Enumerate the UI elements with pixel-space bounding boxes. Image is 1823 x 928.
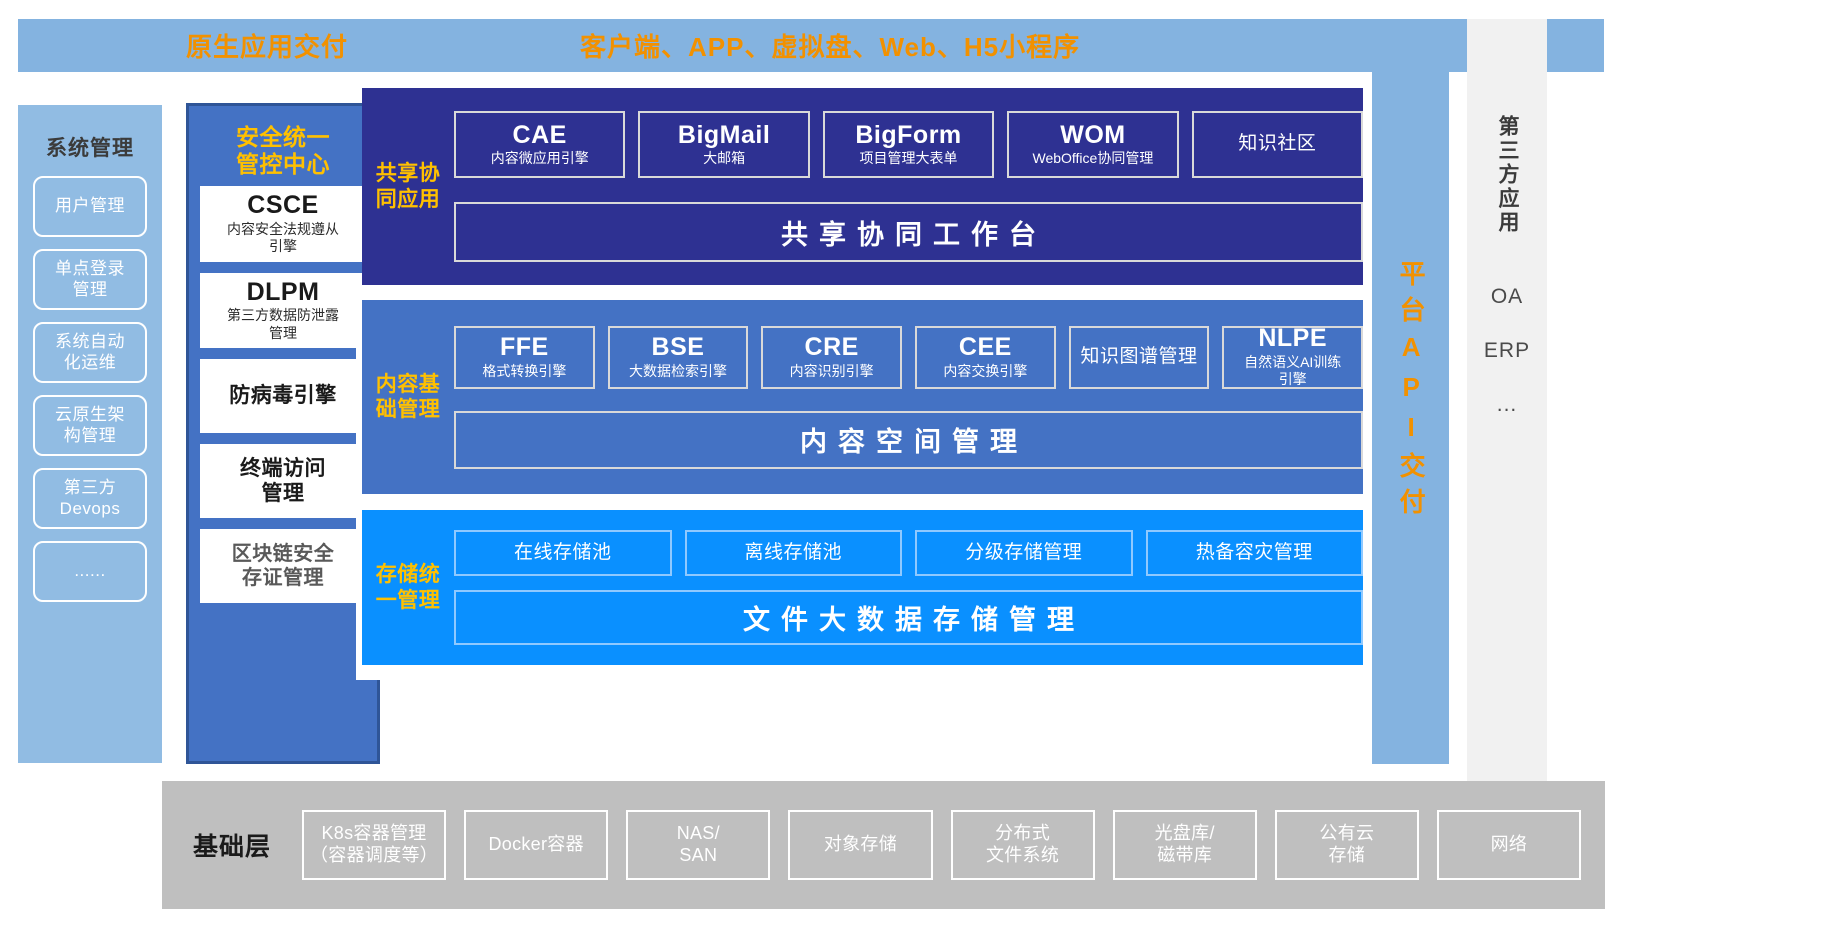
foundation-card-label: NAS/SAN <box>677 823 720 867</box>
file-bigdata-storage-management-bar[interactable]: 文件大数据存储管理 <box>454 590 1363 645</box>
app-card-cae[interactable]: CAE 内容微应用引擎 <box>454 111 625 178</box>
sidebar-item-cloud-native-architecture[interactable]: 云原生架构管理 <box>33 395 147 456</box>
engine-card-desc: 大数据检索引擎 <box>629 363 727 381</box>
storage-card-label: 在线存储池 <box>514 542 612 565</box>
storage-management-body: 在线存储池 离线存储池 分级存储管理 热备容灾管理 文件大数据存储管理 <box>454 530 1363 645</box>
security-card-blockchain-evidence-management[interactable]: 区块链安全存证管理 <box>200 529 366 603</box>
app-card-desc: 内容微应用引擎 <box>491 150 589 168</box>
third-party-item-erp[interactable]: ERP <box>1484 339 1530 363</box>
security-control-center-column: 安全统一管控中心 CSCE 内容安全法规遵从引擎 DLPM 第三方数据防泄露管理… <box>186 103 380 764</box>
content-space-management-bar[interactable]: 内容空间管理 <box>454 411 1363 469</box>
foundation-card-public-cloud-storage[interactable]: 公有云存储 <box>1275 810 1419 880</box>
sidebar-item-more[interactable]: ...... <box>33 541 147 602</box>
sidebar-item-user-management[interactable]: 用户管理 <box>33 176 147 237</box>
security-card-csce[interactable]: CSCE 内容安全法规遵从引擎 <box>200 186 366 262</box>
shared-collaboration-label: 共享协同应用 <box>362 161 454 211</box>
engine-card-label: 知识图谱管理 <box>1081 346 1198 369</box>
foundation-layer-title: 基础层 <box>162 827 302 863</box>
storage-card-offline-pool[interactable]: 离线存储池 <box>685 530 903 576</box>
security-card-abbr: CSCE <box>247 192 318 220</box>
foundation-layer-band: 基础层 K8s容器管理（容器调度等） Docker容器 NAS/SAN 对象存储… <box>162 781 1605 909</box>
content-foundation-band: 内容基础管理 FFE 格式转换引擎 BSE 大数据检索引擎 CRE 内容识别引擎… <box>362 300 1363 494</box>
storage-card-hot-standby-dr[interactable]: 热备容灾管理 <box>1146 530 1364 576</box>
foundation-card-label: 对象存储 <box>824 834 897 856</box>
foundation-card-docker[interactable]: Docker容器 <box>464 810 608 880</box>
third-party-application-column: 第三方应用 OA ERP ... <box>1467 19 1547 786</box>
foundation-card-k8s[interactable]: K8s容器管理（容器调度等） <box>302 810 446 880</box>
foundation-card-label: 网络 <box>1491 834 1528 856</box>
app-card-abbr: BigForm <box>855 122 961 150</box>
foundation-card-nas-san[interactable]: NAS/SAN <box>626 810 770 880</box>
security-card-desc: 第三方数据防泄露管理 <box>227 307 339 342</box>
engine-card-cre[interactable]: CRE 内容识别引擎 <box>761 326 902 389</box>
engine-card-desc: 自然语义AI训练引擎 <box>1244 354 1341 389</box>
app-card-abbr: BigMail <box>678 122 770 150</box>
storage-management-cards: 在线存储池 离线存储池 分级存储管理 热备容灾管理 <box>454 530 1363 576</box>
storage-management-label: 存储统一管理 <box>362 562 454 612</box>
security-card-antivirus-engine[interactable]: 防病毒引擎 <box>200 359 366 433</box>
foundation-card-label: K8s容器管理（容器调度等） <box>310 823 438 867</box>
banner-left-label: 原生应用交付 <box>186 27 348 64</box>
engine-card-desc: 格式转换引擎 <box>482 363 566 381</box>
sidebar-item-label: 系统自动化运维 <box>55 332 125 373</box>
platform-api-delivery-column: 平台API交付 <box>1372 19 1449 764</box>
engine-card-knowledge-graph-management[interactable]: 知识图谱管理 <box>1069 326 1210 389</box>
sidebar-item-sso-management[interactable]: 单点登录管理 <box>33 249 147 310</box>
foundation-card-optical-tape-library[interactable]: 光盘库/磁带库 <box>1113 810 1257 880</box>
engine-card-nlpe[interactable]: NLPE 自然语义AI训练引擎 <box>1222 326 1363 389</box>
banner-right-label: 客户端、APP、虚拟盘、Web、H5小程序 <box>580 27 1080 64</box>
engine-card-desc: 内容识别引擎 <box>790 363 874 381</box>
security-card-label: 防病毒引擎 <box>229 383 337 409</box>
content-foundation-cards: FFE 格式转换引擎 BSE 大数据检索引擎 CRE 内容识别引擎 CEE 内容… <box>454 326 1363 389</box>
app-card-knowledge-community[interactable]: 知识社区 <box>1192 111 1363 178</box>
storage-card-label: 离线存储池 <box>744 542 842 565</box>
security-card-dlpm[interactable]: DLPM 第三方数据防泄露管理 <box>200 273 366 349</box>
storage-card-tiered-storage[interactable]: 分级存储管理 <box>915 530 1133 576</box>
sidebar-item-third-party-devops[interactable]: 第三方Devops <box>33 468 147 529</box>
engine-card-ffe[interactable]: FFE 格式转换引擎 <box>454 326 595 389</box>
shared-collaboration-band: 共享协同应用 CAE 内容微应用引擎 BigMail 大邮箱 BigForm 项… <box>362 88 1363 285</box>
foundation-layer-cards: K8s容器管理（容器调度等） Docker容器 NAS/SAN 对象存储 分布式… <box>302 810 1605 880</box>
foundation-card-object-storage[interactable]: 对象存储 <box>788 810 932 880</box>
sidebar-item-label: 云原生架构管理 <box>55 405 125 446</box>
security-card-desc: 内容安全法规遵从引擎 <box>227 221 339 256</box>
app-card-label: 知识社区 <box>1238 133 1316 156</box>
system-management-column: 系统管理 用户管理 单点登录管理 系统自动化运维 云原生架构管理 第三方Devo… <box>18 105 162 763</box>
app-card-abbr: CAE <box>513 122 567 150</box>
system-management-title: 系统管理 <box>46 132 134 162</box>
shared-collaboration-body: CAE 内容微应用引擎 BigMail 大邮箱 BigForm 项目管理大表单 … <box>454 111 1363 262</box>
foundation-card-network[interactable]: 网络 <box>1437 810 1581 880</box>
storage-card-label: 分级存储管理 <box>965 542 1082 565</box>
storage-card-label: 热备容灾管理 <box>1196 542 1313 565</box>
shared-collaboration-cards: CAE 内容微应用引擎 BigMail 大邮箱 BigForm 项目管理大表单 … <box>454 111 1363 178</box>
sidebar-item-label: 用户管理 <box>55 196 125 216</box>
security-card-terminal-access-management[interactable]: 终端访问管理 <box>200 444 366 518</box>
architecture-diagram: 原生应用交付 客户端、APP、虚拟盘、Web、H5小程序 系统管理 用户管理 单… <box>0 0 1823 928</box>
security-card-label: 区块链安全存证管理 <box>232 542 335 591</box>
shared-collaboration-workbench-bar[interactable]: 共享协同工作台 <box>454 202 1363 262</box>
engine-card-abbr: NLPE <box>1258 325 1327 353</box>
engine-card-abbr: FFE <box>500 334 549 362</box>
storage-card-online-pool[interactable]: 在线存储池 <box>454 530 672 576</box>
foundation-card-label: Docker容器 <box>488 834 583 856</box>
engine-card-bse[interactable]: BSE 大数据检索引擎 <box>608 326 749 389</box>
app-card-abbr: WOM <box>1060 122 1125 150</box>
foundation-card-label: 公有云存储 <box>1319 823 1374 867</box>
engine-card-cee[interactable]: CEE 内容交换引擎 <box>915 326 1056 389</box>
engine-card-abbr: CRE <box>805 334 859 362</box>
sidebar-item-label: 单点登录管理 <box>55 259 125 300</box>
app-card-desc: 项目管理大表单 <box>860 150 958 168</box>
sidebar-item-automation-ops[interactable]: 系统自动化运维 <box>33 322 147 383</box>
third-party-item-more[interactable]: ... <box>1497 393 1518 417</box>
sidebar-item-label: 第三方Devops <box>60 478 121 519</box>
app-card-desc: WebOffice协同管理 <box>1032 150 1153 168</box>
content-foundation-label: 内容基础管理 <box>362 372 454 422</box>
engine-card-abbr: CEE <box>959 334 1012 362</box>
foundation-card-distributed-fs[interactable]: 分布式文件系统 <box>951 810 1095 880</box>
app-card-wom[interactable]: WOM WebOffice协同管理 <box>1007 111 1178 178</box>
engine-card-abbr: BSE <box>652 334 705 362</box>
platform-api-delivery-label: 平台API交付 <box>1397 260 1424 524</box>
security-card-abbr: DLPM <box>247 279 320 307</box>
app-card-desc: 大邮箱 <box>703 150 745 168</box>
sidebar-item-label: ...... <box>74 561 105 581</box>
foundation-card-label: 分布式文件系统 <box>986 823 1059 867</box>
app-card-bigform[interactable]: BigForm 项目管理大表单 <box>823 111 994 178</box>
native-app-delivery-banner: 原生应用交付 客户端、APP、虚拟盘、Web、H5小程序 <box>18 19 1604 72</box>
third-party-items: OA ERP ... <box>1484 285 1530 417</box>
security-card-label: 终端访问管理 <box>240 456 326 507</box>
third-party-item-oa[interactable]: OA <box>1491 285 1523 309</box>
content-foundation-body: FFE 格式转换引擎 BSE 大数据检索引擎 CRE 内容识别引擎 CEE 内容… <box>454 326 1363 469</box>
third-party-title: 第三方应用 <box>1492 115 1522 235</box>
foundation-card-label: 光盘库/磁带库 <box>1155 823 1215 867</box>
app-card-bigmail[interactable]: BigMail 大邮箱 <box>638 111 809 178</box>
security-center-title: 安全统一管控中心 <box>236 124 330 178</box>
storage-unified-management-band: 存储统一管理 在线存储池 离线存储池 分级存储管理 热备容灾管理 文件大数据存储… <box>362 510 1363 665</box>
engine-card-desc: 内容交换引擎 <box>943 363 1027 381</box>
